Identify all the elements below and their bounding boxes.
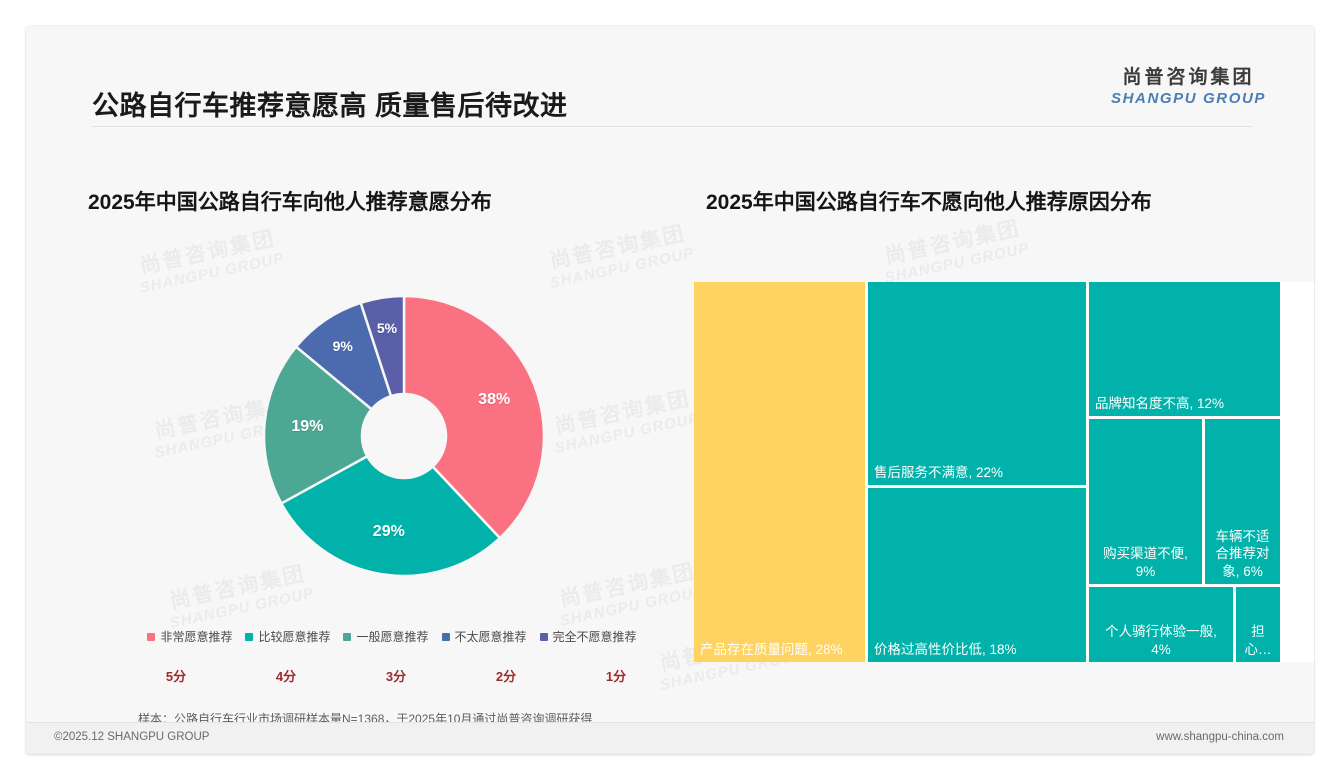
treemap-cell[interactable]: 售后服务不满意, 22% xyxy=(868,282,1086,485)
treemap-cell-label: 价格过高性价比低, 18% xyxy=(868,641,1086,658)
website-url[interactable]: www.shangpu-china.com xyxy=(1156,731,1284,743)
treemap-cell[interactable]: 品牌知名度不高, 12% xyxy=(1089,282,1280,416)
treemap-cell-label: 车辆不适合推荐对象, 6% xyxy=(1205,528,1280,580)
left-chart-title: 2025年中国公路自行车向他人推荐意愿分布 xyxy=(88,186,492,216)
treemap-chart: 产品存在质量问题, 28% 售后服务不满意, 22% 价格过高性价比低, 18%… xyxy=(694,282,1314,662)
legend-swatch-icon xyxy=(245,633,253,641)
treemap-cell[interactable]: 购买渠道不便, 9% xyxy=(1089,419,1202,584)
copyright-text: ©2025.12 SHANGPU GROUP xyxy=(54,731,209,743)
treemap-cell-label: 担心… xyxy=(1236,623,1280,658)
legend-item[interactable]: 一般愿意推荐 xyxy=(343,628,428,645)
right-chart-title: 2025年中国公路自行车不愿向他人推荐原因分布 xyxy=(706,186,1152,216)
legend-swatch-icon xyxy=(442,633,450,641)
score-label: 3分 xyxy=(366,666,426,685)
score-label: 1分 xyxy=(586,666,646,685)
treemap-cell[interactable]: 个人骑行体验一般, 4% xyxy=(1089,587,1233,662)
donut-hole xyxy=(362,394,446,478)
treemap-cell-label: 产品存在质量问题, 28% xyxy=(694,641,865,658)
treemap-cell-label: 购买渠道不便, 9% xyxy=(1089,545,1202,580)
donut-chart: 38%29%19%9%5% xyxy=(244,276,564,596)
legend-swatch-icon xyxy=(540,633,548,641)
treemap-cell[interactable]: 产品存在质量问题, 28% xyxy=(694,282,865,662)
legend-item[interactable]: 比较愿意推荐 xyxy=(245,628,330,645)
legend-item[interactable]: 完全不愿意推荐 xyxy=(540,628,637,645)
legend-item-label: 完全不愿意推荐 xyxy=(553,628,637,645)
treemap-cell[interactable]: 担心… xyxy=(1236,587,1280,662)
treemap-cell-label: 售后服务不满意, 22% xyxy=(868,464,1086,481)
score-label: 4分 xyxy=(256,666,316,685)
treemap-cell[interactable]: 车辆不适合推荐对象, 6% xyxy=(1205,419,1280,584)
donut-legend: 非常愿意推荐 比较愿意推荐 一般愿意推荐 不太愿意推荐 完全不愿意推荐 xyxy=(92,628,692,645)
slide-canvas: 公路自行车推荐意愿高 质量售后待改进 尚普咨询集团 SHANGPU GROUP … xyxy=(26,26,1314,754)
legend-item-label: 不太愿意推荐 xyxy=(455,628,527,645)
legend-item-label: 比较愿意推荐 xyxy=(258,628,330,645)
legend-swatch-icon xyxy=(343,633,351,641)
legend-item[interactable]: 非常愿意推荐 xyxy=(147,628,232,645)
legend-swatch-icon xyxy=(147,633,155,641)
treemap-cell-label: 个人骑行体验一般, 4% xyxy=(1089,623,1233,658)
treemap-cell-label: 品牌知名度不高, 12% xyxy=(1089,395,1280,412)
left-chart-panel: 2025年中国公路自行车向他人推荐意愿分布 38%29%19%9%5% 非常愿意… xyxy=(26,26,666,726)
score-label: 5分 xyxy=(146,666,206,685)
legend-item-label: 非常愿意推荐 xyxy=(160,628,232,645)
legend-item-label: 一般愿意推荐 xyxy=(356,628,428,645)
score-label: 2分 xyxy=(476,666,536,685)
donut-chart-svg xyxy=(244,276,564,596)
score-axis-row: 5分 4分 3分 2分 1分 xyxy=(146,666,646,685)
slide-footer: ©2025.12 SHANGPU GROUP www.shangpu-china… xyxy=(26,723,1314,754)
legend-item[interactable]: 不太愿意推荐 xyxy=(442,628,527,645)
treemap-cell[interactable]: 价格过高性价比低, 18% xyxy=(868,488,1086,662)
